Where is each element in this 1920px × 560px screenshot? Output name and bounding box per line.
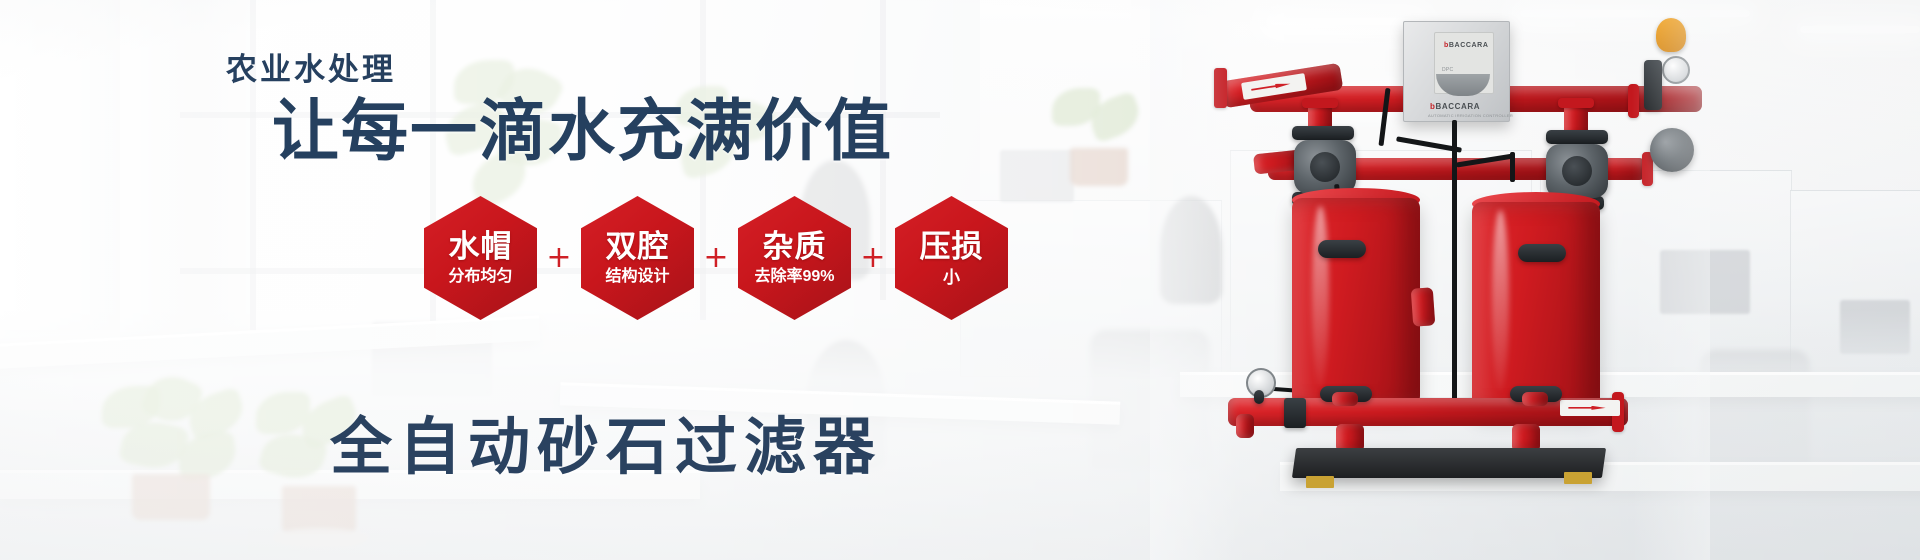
feature-badge-4[interactable]: 压损 小	[895, 196, 1008, 320]
base-foot	[1564, 472, 1592, 484]
promo-banner: bBACCARA DPC bBACCARA AUTOMATIC IRRIGATI…	[0, 0, 1920, 560]
filter-tank-right	[1472, 202, 1600, 412]
riser-flange	[1558, 98, 1594, 108]
flow-sensor	[1284, 398, 1306, 428]
manifold-flange	[1628, 84, 1639, 118]
badge-subtitle: 小	[943, 269, 960, 286]
eyebrow-text: 农业水处理	[226, 44, 396, 89]
feature-badge-row: 水帽 分布均匀 + 双腔 结构设计 + 杂质 去除率99% + 压损 小	[424, 196, 1008, 320]
product-name-title: 全自动砂石过滤器	[330, 396, 882, 486]
badge-title: 压损	[920, 231, 984, 262]
valve-collar	[1546, 130, 1608, 144]
base-frame	[1292, 448, 1606, 478]
filter-tank-left	[1292, 198, 1420, 408]
air-release-valve	[1656, 18, 1686, 52]
badge-subtitle: 结构设计	[605, 269, 669, 285]
tank-drain-stub	[1411, 287, 1436, 326]
wire	[1510, 152, 1515, 182]
controller-model: DPC	[1442, 67, 1453, 73]
controller-box: bBACCARA DPC bBACCARA AUTOMATIC IRRIGATI…	[1403, 21, 1510, 122]
tank-leg-left	[1332, 392, 1358, 406]
controller-brand-small: bBACCARA	[1444, 42, 1488, 49]
valve-hub	[1562, 156, 1592, 186]
plus-separator-icon: +	[537, 243, 581, 273]
feature-badge-3[interactable]: 杂质 去除率99%	[738, 196, 851, 320]
valve-stem	[1644, 60, 1662, 110]
gauge-stem	[1254, 390, 1264, 404]
badge-title: 杂质	[763, 231, 827, 262]
base-foot	[1306, 476, 1334, 488]
flow-direction-label-out	[1560, 400, 1620, 416]
product-photo-sand-filter: bBACCARA DPC bBACCARA AUTOMATIC IRRIGATI…	[1150, 0, 1710, 560]
tank-clamp	[1518, 244, 1566, 262]
badge-subtitle: 分布均匀	[448, 269, 512, 285]
inlet-flange	[1214, 68, 1227, 108]
copy-block: 农业水处理 让每一滴水充满价值 水帽 分布均匀 + 双腔 结构设计 + 杂质 去…	[0, 0, 1180, 560]
valve-hub	[1310, 152, 1340, 182]
side-valve	[1650, 128, 1694, 172]
valve-collar	[1292, 126, 1354, 140]
badge-subtitle: 去除率99%	[754, 269, 834, 285]
badge-title: 水帽	[449, 231, 513, 262]
feature-badge-1[interactable]: 水帽 分布均匀	[424, 196, 537, 320]
tank-clamp	[1318, 240, 1366, 258]
plus-separator-icon: +	[851, 243, 895, 273]
badge-title: 双腔	[606, 231, 670, 262]
controller-brand: bBACCARA	[1430, 102, 1480, 111]
pressure-gauge-top	[1662, 56, 1690, 84]
feature-badge-2[interactable]: 双腔 结构设计	[581, 196, 694, 320]
plus-separator-icon: +	[694, 243, 738, 273]
wire-main	[1452, 152, 1457, 412]
tank-leg-right	[1522, 392, 1548, 406]
page-title: 让每一滴水充满价值	[272, 98, 893, 166]
controller-tagline: AUTOMATIC IRRIGATION CONTROLLER	[1428, 113, 1513, 118]
bottom-drain	[1236, 414, 1254, 438]
riser-flange	[1302, 98, 1338, 108]
